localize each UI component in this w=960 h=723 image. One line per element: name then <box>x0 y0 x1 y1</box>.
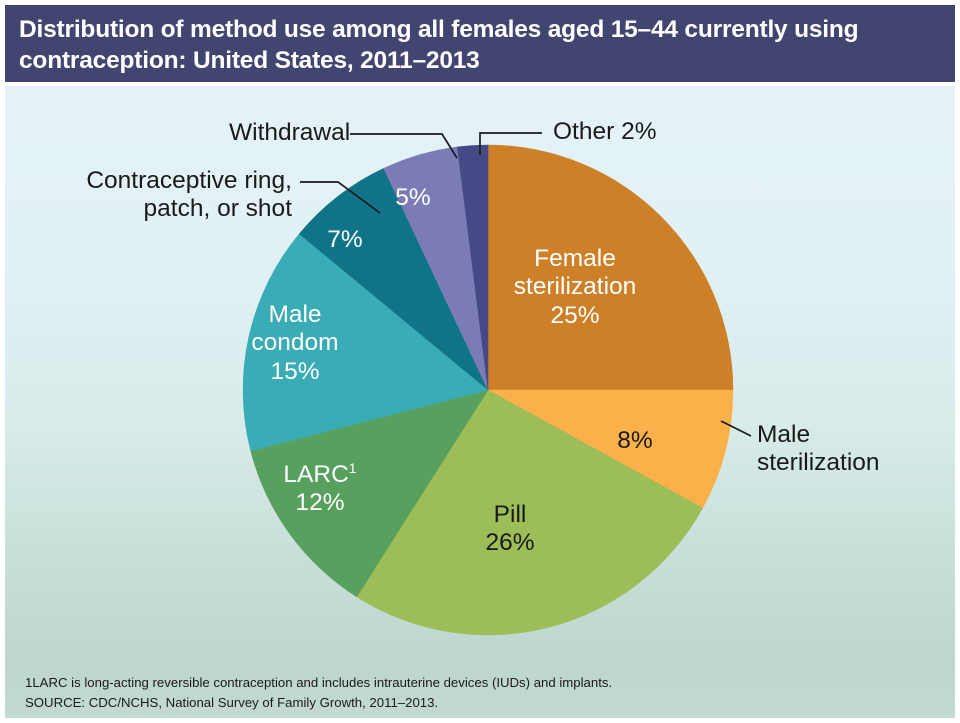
callout-label-male-sterilization-line1: Male <box>757 421 810 448</box>
footnote-block: 1LARC is long-acting reversible contrace… <box>25 673 612 713</box>
callout-label-contraceptive-ring-line1: Contraceptive ring, <box>86 167 292 194</box>
callout-label-other: Other 2% <box>553 118 657 146</box>
callout-label-male-sterilization-line2: sterilization <box>757 449 880 476</box>
pie-slice-female-sterilization <box>488 145 733 390</box>
figure-container: Distribution of method use among all fem… <box>0 0 960 723</box>
callout-label-withdrawal: Withdrawal <box>229 119 350 147</box>
callout-label-contraceptive-ring-line2: patch, or shot <box>144 195 292 222</box>
chart-title-bar: Distribution of method use among all fem… <box>5 5 955 82</box>
footnote-panel: 1LARC is long-acting reversible contrace… <box>5 661 955 718</box>
chart-plot-area: Female sterilization 25% Pill 26% LARC1 … <box>5 86 955 661</box>
callout-label-male-sterilization: Male sterilization <box>757 421 880 478</box>
callout-label-contraceptive-ring: Contraceptive ring, patch, or shot <box>78 167 292 224</box>
footnote-larc-definition: 1LARC is long-acting reversible contrace… <box>25 673 612 693</box>
pie-slice-group <box>243 145 733 635</box>
footnote-source: SOURCE: CDC/NCHS, National Survey of Fam… <box>25 693 612 713</box>
page-title: Distribution of method use among all fem… <box>19 14 945 77</box>
